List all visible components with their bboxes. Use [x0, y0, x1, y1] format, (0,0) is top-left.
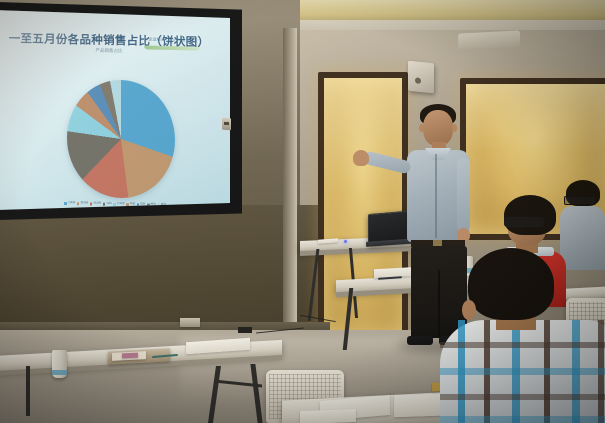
legend-label: 乌鸡: [106, 203, 111, 206]
presenter-shirt-placket: [435, 154, 437, 238]
audience-back-hair: [504, 195, 556, 235]
chart-legend: 三黄鸡黄羽鸡白羽鸡乌鸡土鸡蛋鸡苗饲料种鸡其他: [42, 199, 188, 210]
legend-label: 鸡苗: [130, 203, 135, 206]
cable-adapter: [238, 327, 252, 333]
cup-band: [52, 370, 67, 375]
plaid-stripe: [440, 394, 605, 400]
audience-member-plaid-shirt: [440, 248, 605, 423]
sticker-on-notebook: [122, 353, 138, 359]
table-leg: [26, 366, 30, 416]
plaid-stripe: [440, 342, 605, 348]
presenter-head: [423, 110, 453, 146]
legend-swatch: [126, 203, 129, 206]
legend-label: 种鸡: [151, 204, 156, 207]
glasses-icon: [504, 217, 544, 227]
audience-front-hair: [468, 248, 554, 320]
legend-swatch: [157, 204, 160, 207]
audience-front-ear: [462, 300, 476, 320]
legend-item: 种鸡: [147, 204, 156, 207]
legend-item: 三黄鸡: [64, 202, 75, 205]
legend-item: 鸡苗: [126, 203, 135, 206]
presenter-right-arm: [457, 158, 470, 232]
wall-speaker-icon: [408, 61, 434, 94]
pie-chart-graphic: [67, 79, 175, 199]
pie-chart: [67, 79, 175, 199]
legend-swatch: [113, 203, 116, 206]
presentation-room-photo: 企业标识 · 中心 · 电子商务 一至五月份各品种销售占比（饼状图） 产品销售占…: [0, 0, 605, 423]
legend-swatch: [90, 203, 93, 206]
wall-control-panel[interactable]: [222, 118, 231, 131]
legend-label: 三黄鸡: [68, 202, 76, 205]
plaid-stripe: [440, 416, 605, 423]
audience-front-shirt: [440, 320, 605, 423]
wall-power-outlet[interactable]: [180, 318, 200, 327]
projection-screen-frame: 企业标识 · 中心 · 电子商务 一至五月份各品种销售占比（饼状图） 产品销售占…: [0, 2, 242, 220]
presenter-ear: [452, 124, 457, 132]
legend-swatch: [147, 204, 150, 207]
legend-swatch: [137, 204, 140, 207]
legend-label: 黄羽鸡: [80, 203, 88, 206]
wall-corner: [283, 28, 297, 338]
projection-screen-surface: 企业标识 · 中心 · 电子商务 一至五月份各品种销售占比（饼状图） 产品销售占…: [0, 10, 230, 210]
legend-item: 黄羽鸡: [77, 202, 88, 205]
legend-item: 白羽鸡: [90, 203, 101, 206]
plaid-stripe: [440, 368, 605, 375]
presenter-left-hand: [353, 150, 369, 166]
legend-swatch: [64, 202, 67, 205]
status-led-icon: [344, 240, 347, 243]
paper-cup-left: [52, 350, 67, 378]
legend-swatch: [77, 202, 80, 205]
legend-item: 乌鸡: [103, 203, 112, 206]
legend-swatch: [103, 203, 106, 206]
air-conditioner-icon: [458, 30, 520, 49]
legend-item: 土鸡蛋: [113, 203, 124, 206]
alcove-glow: [324, 78, 402, 336]
legend-label: 白羽鸡: [93, 203, 101, 206]
handout-sheet: [300, 409, 356, 423]
legend-item: 饲料: [137, 204, 146, 207]
legend-label: 土鸡蛋: [117, 203, 125, 206]
presenter-ear: [419, 124, 424, 132]
legend-label: 饲料: [140, 204, 145, 207]
legend-label: 其他: [161, 204, 166, 207]
legend-item: 其他: [157, 204, 166, 207]
